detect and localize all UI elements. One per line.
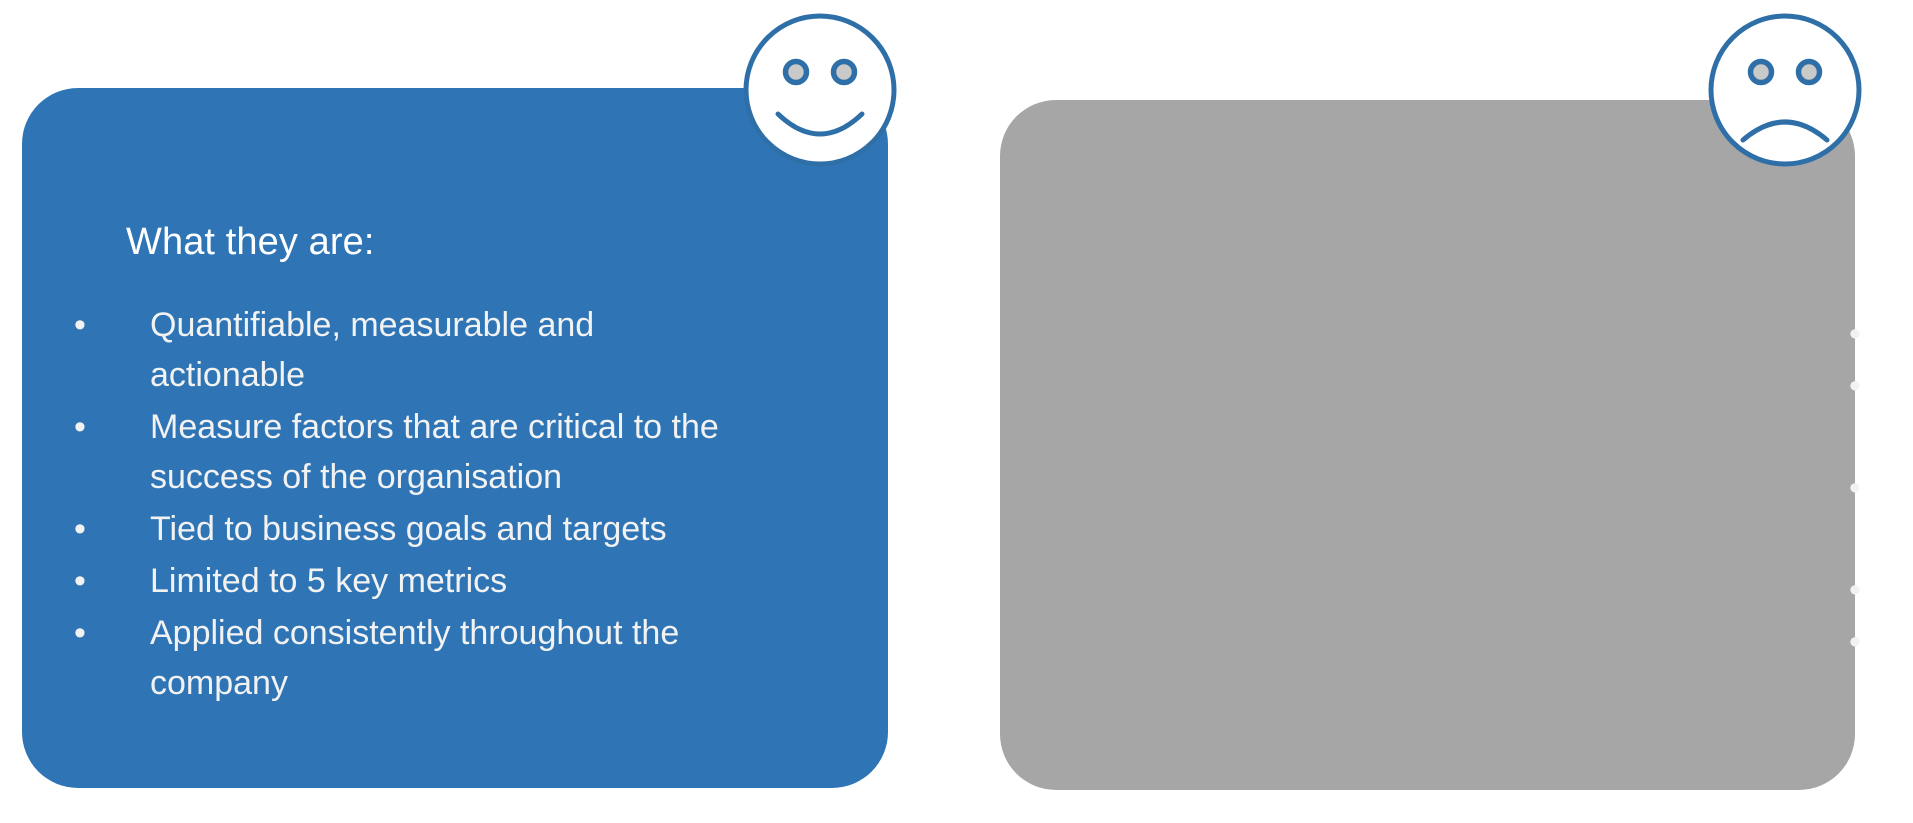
list-item: • Metrics that are vague or unclear xyxy=(1843,309,1913,359)
smiley-face-icon xyxy=(740,10,900,170)
positive-bullet-list: • Quantifiable, measurable and actionabl… xyxy=(68,300,748,710)
negative-panel: What they are not: • Metrics that are va… xyxy=(1000,100,1855,790)
bullet-icon: • xyxy=(1849,565,1869,615)
list-item: • Tied to business goals and targets xyxy=(68,504,748,554)
list-item: • Measure factors that are critical to t… xyxy=(68,402,748,502)
list-item-text: Tied to business goals and targets xyxy=(150,510,667,548)
slide-canvas: What they are: • Quantifiable, measurabl… xyxy=(0,0,1913,823)
positive-panel: What they are: • Quantifiable, measurabl… xyxy=(22,88,888,788)
bullet-icon: • xyxy=(74,608,94,658)
bullet-icon: • xyxy=(74,556,94,606)
list-item: • Exhaustive set of metrics xyxy=(1843,565,1913,615)
bullet-icon: • xyxy=(74,402,94,452)
list-item: • Refutable xyxy=(1843,617,1913,667)
list-item-text: Applied consistently throughout the comp… xyxy=(150,614,679,702)
bullet-icon: • xyxy=(74,300,94,350)
positive-panel-heading: What they are: xyxy=(126,221,375,264)
list-item: • Reports (top search engines, top keywo… xyxy=(1843,463,1913,563)
negative-bullet-list: • Metrics that are vague or unclear • “N… xyxy=(1843,309,1913,669)
list-item: • Applied consistently throughout the co… xyxy=(68,608,748,708)
bullet-icon: • xyxy=(1849,361,1869,411)
list-item: • Quantifiable, measurable and actionabl… xyxy=(68,300,748,400)
bullet-icon: • xyxy=(74,504,94,554)
bullet-icon: • xyxy=(1849,617,1869,667)
list-item-text: Measure factors that are critical to the… xyxy=(150,408,719,496)
list-item: • Limited to 5 key metrics xyxy=(68,556,748,606)
bullet-icon: • xyxy=(1849,309,1869,359)
list-item: • “Nice-to-know’s” or metrics that are n… xyxy=(1843,361,1913,461)
list-item-text: Quantifiable, measurable and actionable xyxy=(150,306,594,394)
bullet-icon: • xyxy=(1849,463,1869,513)
frowning-face-icon xyxy=(1705,10,1865,170)
list-item-text: Limited to 5 key metrics xyxy=(150,562,507,600)
